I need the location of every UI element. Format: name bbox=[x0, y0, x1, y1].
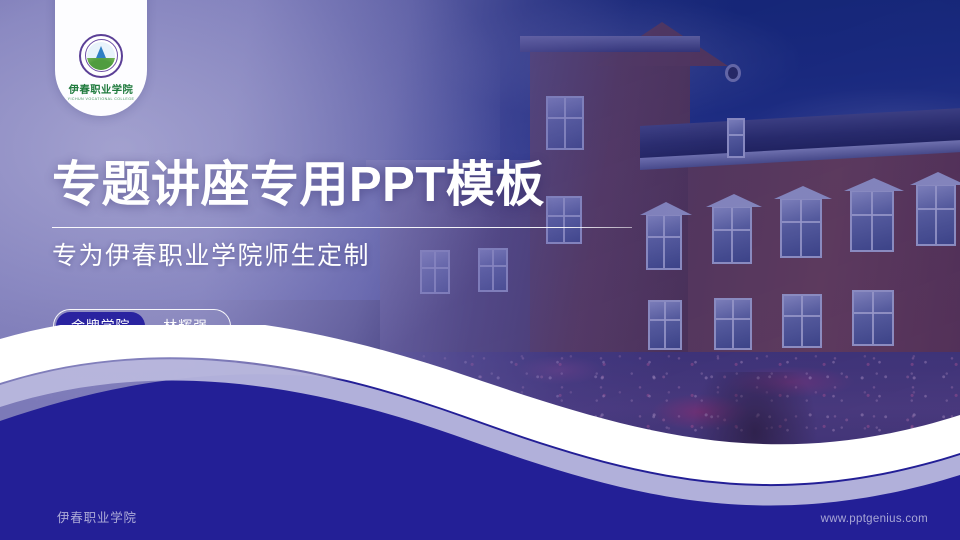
presenter-name-badge[interactable]: 林辉强 bbox=[145, 312, 228, 340]
status-badge-gold-college[interactable]: 金牌学院 bbox=[56, 312, 145, 340]
school-logo-badge: 伊春职业学院 YICHUN VOCATIONAL COLLEGE bbox=[55, 0, 147, 116]
footer-website-url[interactable]: www.pptgenius.com bbox=[821, 513, 928, 525]
green-hill-icon bbox=[87, 58, 115, 70]
logo-school-name-en: YICHUN VOCATIONAL COLLEGE bbox=[68, 98, 135, 102]
page-title: 专题讲座专用PPT模板 bbox=[52, 158, 672, 213]
title-divider bbox=[52, 227, 632, 229]
logo-school-name-cn: 伊春职业学院 bbox=[69, 85, 134, 95]
crest-inner-emblem bbox=[87, 42, 115, 70]
tag-pill-group[interactable]: 金牌学院 林辉强 bbox=[53, 309, 231, 343]
school-crest-icon bbox=[79, 34, 123, 78]
hero-text-block: 专题讲座专用PPT模板 专为伊春职业学院师生定制 bbox=[52, 158, 672, 273]
presentation-title-slide: 伊春职业学院 YICHUN VOCATIONAL COLLEGE 专题讲座专用P… bbox=[0, 0, 960, 540]
page-subtitle: 专为伊春职业学院师生定制 bbox=[52, 241, 672, 272]
footer-school-name: 伊春职业学院 bbox=[57, 507, 137, 526]
pine-tree-icon bbox=[94, 46, 108, 63]
